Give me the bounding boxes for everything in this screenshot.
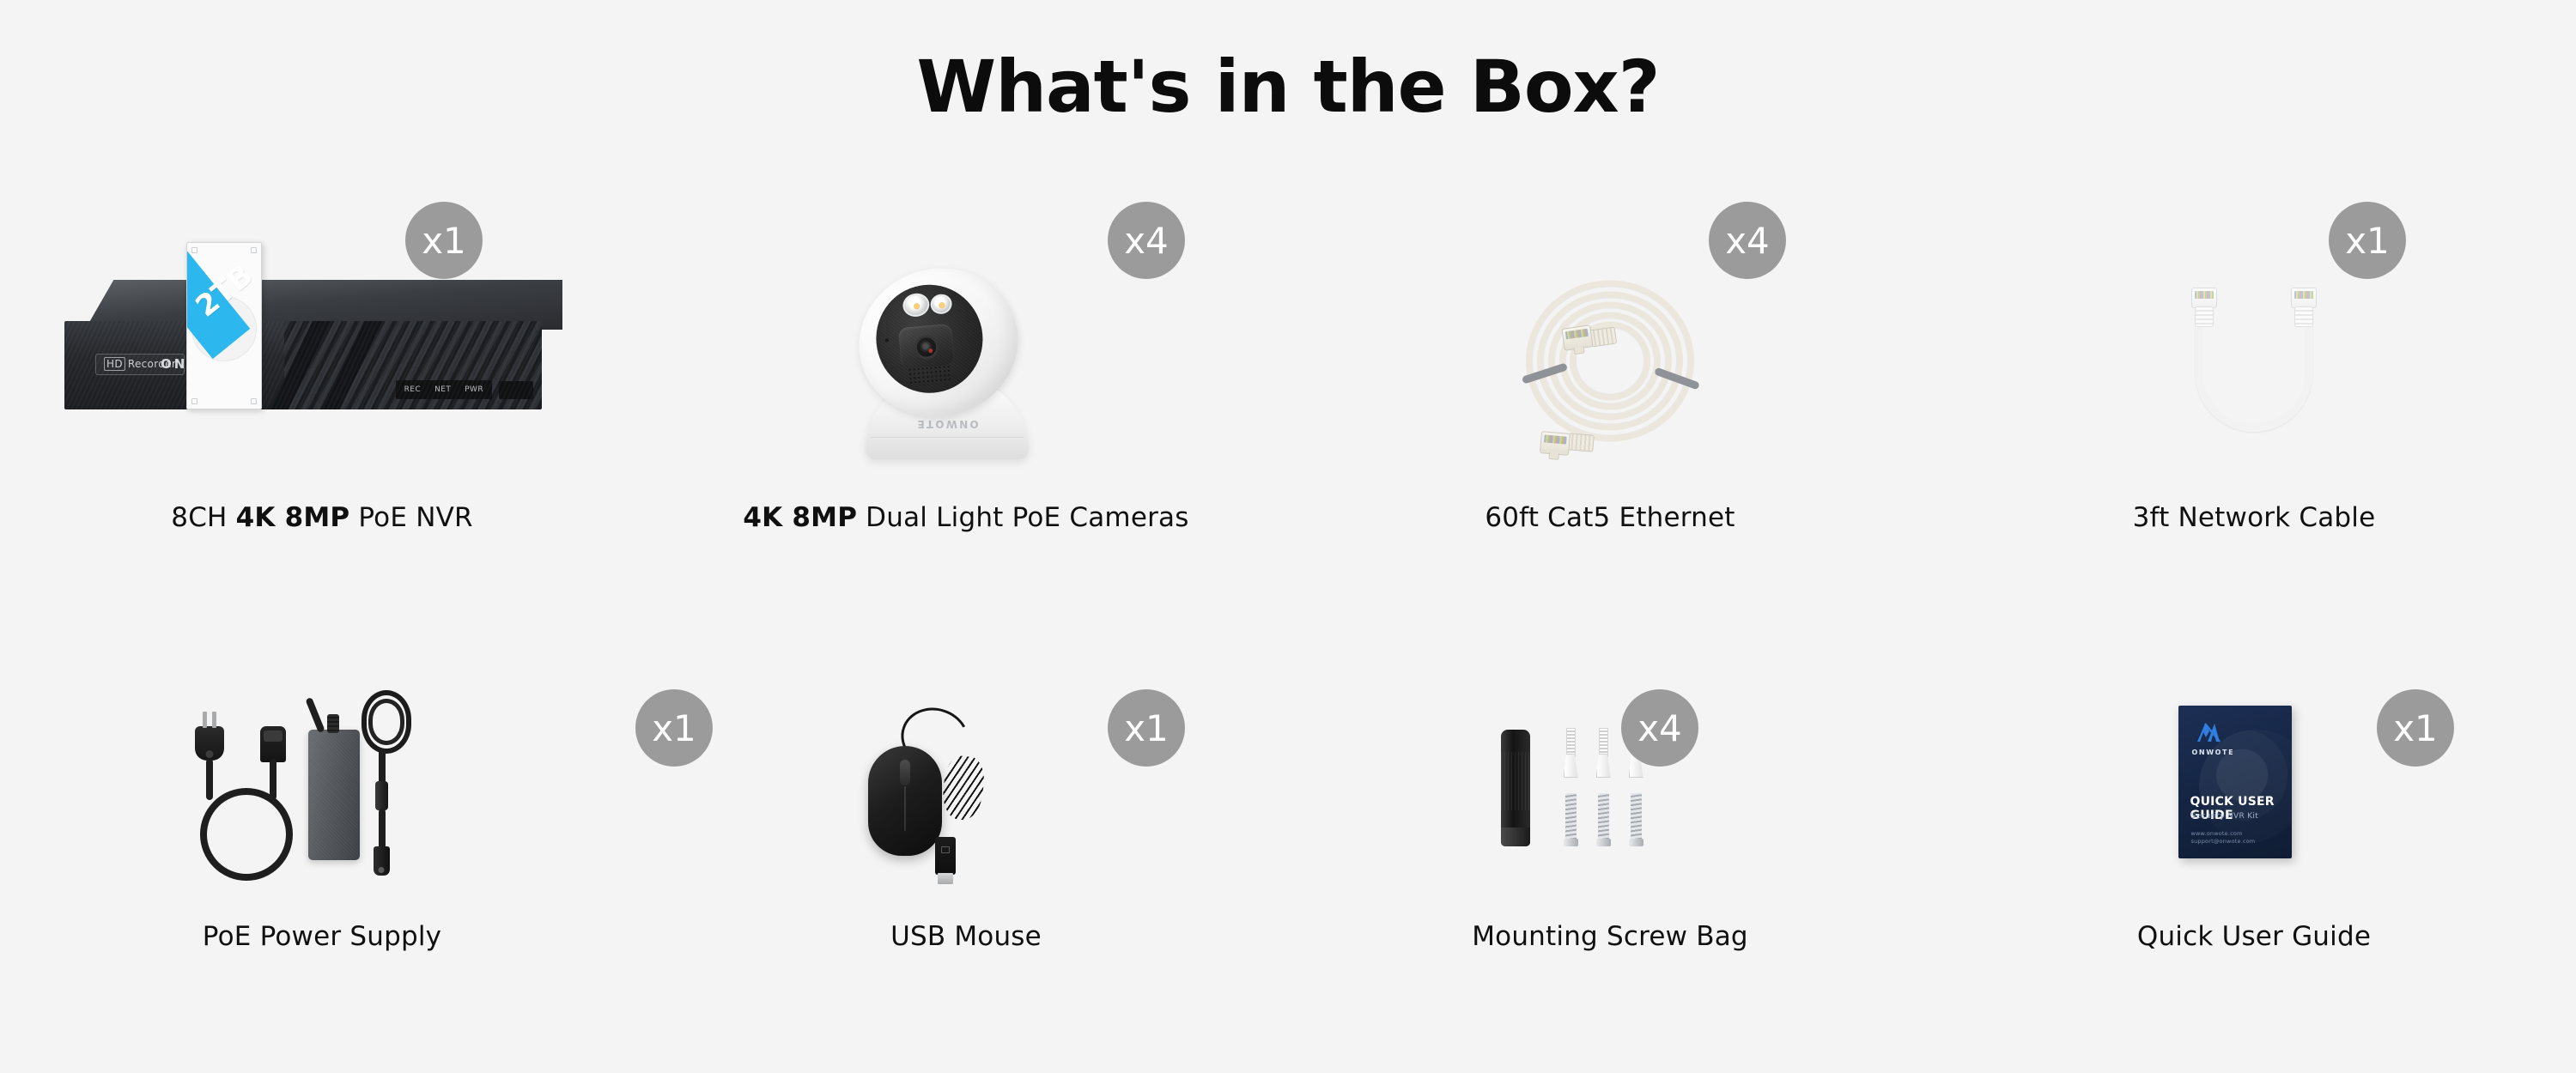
guide-url-line2: support@onwote.com xyxy=(2191,838,2256,846)
product-cell-nvr: x1 HDRecorder ONWOTE REC NE xyxy=(0,232,644,609)
qty-badge-psu: x1 xyxy=(635,689,713,767)
psu-brick xyxy=(308,730,360,860)
camera-faceplate xyxy=(867,276,991,402)
product-row-1: x1 HDRecorder ONWOTE REC NE xyxy=(0,232,2576,609)
camera-speaker-grille xyxy=(907,364,951,386)
mounting-screw xyxy=(1565,793,1577,846)
product-image-psu xyxy=(0,648,644,906)
qty-badge-mouse: x1 xyxy=(1108,689,1185,767)
led-label-rec: REC xyxy=(404,385,421,394)
product-image-guide: ONWOTE QUICK USER GUIDE Security NVR Kit… xyxy=(1932,648,2576,906)
product-image-screws xyxy=(1288,648,1932,906)
qty-badge-screws: x4 xyxy=(1621,689,1698,767)
usb-mouse-icon xyxy=(861,706,1033,878)
camera-spotlight-led xyxy=(901,291,931,318)
camera-brand-label: ONWOTE xyxy=(915,418,978,430)
nvr-ir-window xyxy=(499,381,533,399)
ac-wall-plug xyxy=(195,726,224,761)
qty-badge-nvr: x1 xyxy=(405,202,483,279)
product-image-mouse xyxy=(644,648,1288,906)
rj45-connector xyxy=(1540,431,1571,456)
network-patch-cable-icon xyxy=(2164,288,2344,433)
guide-brand-label: ONWOTE xyxy=(2192,749,2235,756)
camera-spotlight-led xyxy=(928,293,953,316)
waterproof-cable-connector xyxy=(1501,730,1530,846)
hd-recorder-badge: HDRecorder xyxy=(95,354,185,375)
rj45-connector xyxy=(2191,288,2217,327)
guide-contact-info: www.onwote.com support@onwote.com xyxy=(2191,830,2256,847)
caption-cameras-bold: 4K 8MP xyxy=(743,502,857,533)
caption-psu: PoE Power Supply xyxy=(0,921,644,952)
hdd-screw xyxy=(191,398,197,404)
mouse-scroll-wheel xyxy=(900,760,910,785)
hd-mark: HD xyxy=(104,357,125,371)
recorder-text: Recorder xyxy=(128,358,176,370)
led-label-net: NET xyxy=(434,385,451,394)
caption-cameras: 4K 8MP Dual Light PoE Cameras xyxy=(644,502,1288,533)
product-cell-screws: x4 Mounting Screw Bag xyxy=(1288,648,1932,1026)
caption-screws-pre: Mounting Screw Bag xyxy=(1472,921,1748,952)
rj45-connector xyxy=(2291,288,2317,327)
nvr-recorder-icon: HDRecorder ONWOTE REC NET PWR xyxy=(64,280,580,452)
anchor-cone xyxy=(1596,754,1611,778)
rj45-head xyxy=(2191,288,2217,308)
hard-drive-icon: 2TB xyxy=(186,242,262,409)
product-image-cat5 xyxy=(1288,232,1932,489)
led-filament xyxy=(938,302,945,309)
dome-camera-icon: ONWOTE xyxy=(848,262,1046,459)
camera-microphone-hole xyxy=(884,338,889,343)
whats-in-the-box-page: What's in the Box? x1 HDRecorder ONWOTE xyxy=(0,0,2576,1073)
caption-nvr-pre: 8CH xyxy=(171,502,235,533)
screw-head xyxy=(1564,839,1578,846)
rj45-boot xyxy=(2195,306,2214,327)
rj45-pins xyxy=(2294,291,2313,299)
anchor-cone xyxy=(1564,754,1578,778)
camera-lens xyxy=(913,334,939,360)
rj45-head xyxy=(2291,288,2317,308)
nvr-front-panel: HDRecorder ONWOTE REC NET PWR xyxy=(64,321,542,409)
mounting-screw xyxy=(1598,793,1609,846)
rj45-boot xyxy=(2294,306,2313,327)
product-image-nvr: HDRecorder ONWOTE REC NET PWR xyxy=(0,232,644,489)
rj45-pins xyxy=(2195,291,2214,299)
nvr-stripe xyxy=(262,321,335,409)
psu-dc-wire xyxy=(379,809,386,850)
nvr-hatch-texture xyxy=(284,321,542,409)
product-row-2: x1 xyxy=(0,648,2576,1026)
product-image-cameras: ONWOTE xyxy=(644,232,1288,489)
cable-loop xyxy=(2196,325,2312,432)
hdd-screw xyxy=(251,247,257,253)
screw-shaft xyxy=(1565,793,1577,841)
hdd-screw xyxy=(251,398,257,404)
power-adapter-icon xyxy=(157,685,423,900)
caption-patch: 3ft Network Cable xyxy=(1932,502,2576,533)
led-filament xyxy=(913,303,920,310)
page-title: What's in the Box? xyxy=(0,45,2576,129)
mounting-screw xyxy=(1631,793,1642,846)
anchor-thread xyxy=(1566,728,1576,757)
led-label-pwr: PWR xyxy=(465,385,483,394)
caption-guide-pre: Quick User Guide xyxy=(2137,921,2371,952)
plug-prong xyxy=(212,712,216,728)
product-cell-patch: x1 xyxy=(1932,232,2576,609)
camera-lens-housing xyxy=(897,324,954,369)
hdd-screw xyxy=(191,247,197,253)
product-cell-cameras: x4 ONWOTE xyxy=(644,232,1288,609)
guide-url-line1: www.onwote.com xyxy=(2191,830,2256,839)
screw-head xyxy=(1629,839,1643,846)
product-cell-guide: x1 ONWOTE QUICK USER GUIDE Sec xyxy=(1932,648,2576,1026)
nvr-stripe xyxy=(313,321,386,409)
qty-badge-guide: x1 xyxy=(2377,689,2454,767)
rj45-clip xyxy=(1574,347,1585,355)
caption-cat5: 60ft Cat5 Ethernet xyxy=(1288,502,1932,533)
caption-nvr-post: PoE NVR xyxy=(349,502,472,533)
caption-psu-pre: PoE Power Supply xyxy=(203,921,441,952)
mouse-body xyxy=(868,746,942,856)
dc-cord-coil xyxy=(368,699,404,745)
product-cell-psu: x1 xyxy=(0,648,644,1026)
rj45-pins xyxy=(1565,329,1589,340)
ethernet-cable-coil-icon xyxy=(1511,269,1709,453)
caption-cameras-post: Dual Light PoE Cameras xyxy=(857,502,1188,533)
qty-badge-cat5: x4 xyxy=(1709,202,1786,279)
qty-badge-patch: x1 xyxy=(2329,202,2406,279)
plug-ground-pin xyxy=(205,750,213,758)
product-cell-cat5: x4 xyxy=(1288,232,1932,609)
psu-strain-relief xyxy=(327,714,339,733)
caption-guide: Quick User Guide xyxy=(1932,921,2576,952)
usb-metal-tip xyxy=(938,873,953,884)
rj45-connector xyxy=(1561,324,1593,350)
rj45-pins xyxy=(1544,434,1567,444)
plug-prong xyxy=(203,712,207,728)
caption-patch-pre: 3ft Network Cable xyxy=(2133,502,2376,533)
mouse-button-split xyxy=(904,786,906,831)
product-cell-mouse: x1 xyxy=(644,648,1288,1026)
caption-mouse: USB Mouse xyxy=(644,921,1288,952)
caption-screws: Mounting Screw Bag xyxy=(1288,921,1932,952)
anchor-thread xyxy=(1599,728,1608,757)
dc-barrel-plug xyxy=(374,846,390,876)
ac-cord xyxy=(270,759,276,800)
nvr-status-leds: REC NET PWR xyxy=(396,380,492,399)
caption-cat5-pre: 60ft Cat5 Ethernet xyxy=(1485,502,1735,533)
wall-anchor xyxy=(1563,728,1579,778)
product-image-patch xyxy=(1932,232,2576,489)
iec-connector xyxy=(260,726,286,762)
ac-cord xyxy=(206,759,213,800)
onwote-logo-icon xyxy=(2194,721,2223,745)
caption-nvr: 8CH 4K 8MP PoE NVR xyxy=(0,502,644,533)
screw-head xyxy=(1596,839,1611,846)
caption-mouse-pre: USB Mouse xyxy=(890,921,1042,952)
rj45-boot xyxy=(1589,327,1617,348)
qty-badge-cameras: x4 xyxy=(1108,202,1185,279)
psu-dc-wire xyxy=(305,697,325,733)
guide-subtitle: Security NVR Kit xyxy=(2191,812,2259,821)
ac-cord-loop xyxy=(200,788,293,881)
ferrite-bead xyxy=(375,781,388,810)
caption-nvr-bold: 4K 8MP xyxy=(236,502,350,533)
rj45-boot xyxy=(1567,433,1595,452)
usb-a-connector xyxy=(935,837,956,875)
wall-anchor xyxy=(1595,728,1612,778)
screw-shaft xyxy=(1598,793,1609,841)
usb-icon xyxy=(941,846,950,853)
user-guide-booklet-icon: ONWOTE QUICK USER GUIDE Security NVR Kit… xyxy=(2178,706,2292,858)
rj45-clip xyxy=(1548,452,1559,460)
screw-shaft xyxy=(1631,793,1642,841)
